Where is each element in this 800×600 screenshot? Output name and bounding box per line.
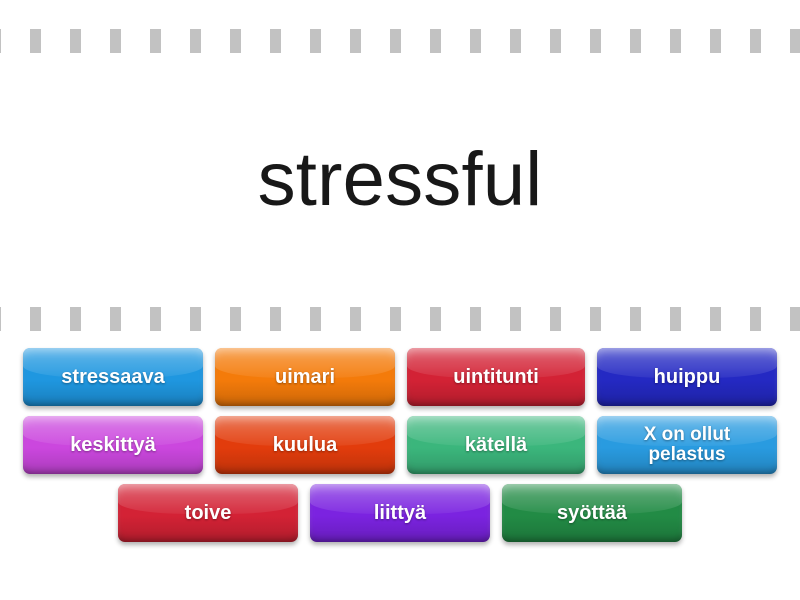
answer-tile-label: X on ollut pelastus	[630, 425, 745, 465]
answer-tile[interactable]: uimari	[215, 348, 395, 406]
answer-tile-label: uimari	[261, 367, 349, 388]
answer-tile[interactable]: kätellä	[407, 416, 585, 474]
page-title: stressful	[258, 142, 543, 218]
answer-tile[interactable]: keskittyä	[23, 416, 203, 474]
answer-tile[interactable]: stressaava	[23, 348, 203, 406]
answer-tile-label: uintitunti	[439, 367, 553, 388]
answer-tile-label: kuulua	[259, 435, 351, 456]
answer-tile[interactable]: toive	[118, 484, 298, 542]
answer-tile-label: syöttää	[543, 503, 641, 524]
answer-tile-label: huippu	[640, 367, 735, 388]
prompt-area: stressful	[0, 60, 800, 300]
tile-row: toiveliittyäsyöttää	[0, 484, 800, 542]
answer-tile[interactable]: X on ollut pelastus	[597, 416, 777, 474]
dashed-separator-middle-icon	[0, 307, 800, 331]
answer-tile-label: kätellä	[451, 435, 541, 456]
dashed-separator-top-icon	[0, 29, 800, 53]
answer-tile-label: liittyä	[360, 503, 440, 524]
answer-tile[interactable]: syöttää	[502, 484, 682, 542]
tile-row: keskittyäkuuluakätelläX on ollut pelastu…	[0, 416, 800, 474]
answer-tile-board: stressaavauimariuintituntihuippukeskitty…	[0, 348, 800, 588]
answer-tile[interactable]: huippu	[597, 348, 777, 406]
answer-tile[interactable]: liittyä	[310, 484, 490, 542]
tile-row: stressaavauimariuintituntihuippu	[0, 348, 800, 406]
answer-tile[interactable]: kuulua	[215, 416, 395, 474]
answer-tile[interactable]: uintitunti	[407, 348, 585, 406]
answer-tile-label: stressaava	[47, 367, 178, 388]
answer-tile-label: keskittyä	[56, 435, 170, 456]
answer-tile-label: toive	[171, 503, 246, 524]
